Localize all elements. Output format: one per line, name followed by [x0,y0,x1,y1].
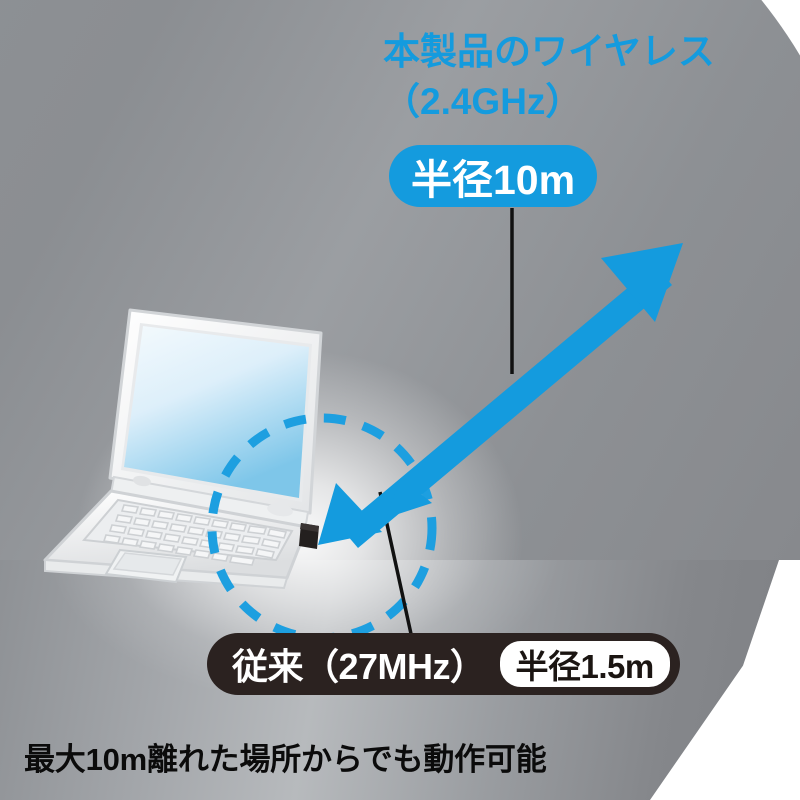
badge-legacy-range: 半径1.5m [498,639,672,689]
badge-wireless-range: 半径10m [389,145,597,207]
figure-caption: 最大10m離れた場所からでも動作可能 [24,734,547,779]
range-arrow-icon [318,243,683,548]
dashed-range-circle-icon [212,418,432,638]
page-title: 本製品のワイヤレス （2.4GHz） [383,27,800,126]
figure-canvas: 本製品のワイヤレス （2.4GHz） 半径10m 従来（27MHz） 半径1.5… [0,0,800,800]
badge-legacy-label: 従来（27MHz） [232,638,498,690]
badge-legacy: 従来（27MHz） 半径1.5m [207,633,680,695]
